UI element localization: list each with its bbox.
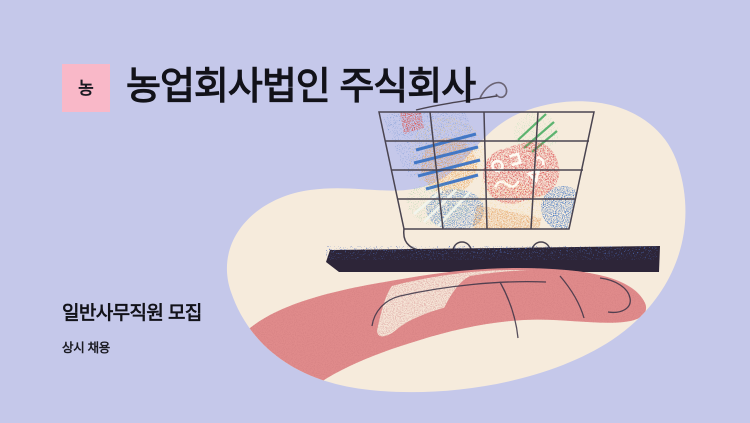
company-initial-badge: 농 [62, 64, 110, 112]
page-title: 농업회사법인 주식회사 [126, 68, 475, 108]
poster-canvas: 농 농업회사법인 주식회사 일반사무직원 모집 상시 채용 [0, 0, 750, 423]
job-position-title: 일반사무직원 모집 [62, 303, 202, 326]
poster-text-layer: 농 농업회사법인 주식회사 일반사무직원 모집 상시 채용 [0, 0, 750, 423]
recruitment-info: 일반사무직원 모집 상시 채용 [62, 303, 202, 356]
hiring-type-note: 상시 채용 [62, 337, 202, 356]
headline-row: 농 농업회사법인 주식회사 [62, 64, 475, 112]
company-initial-badge-label: 농 [78, 80, 94, 97]
